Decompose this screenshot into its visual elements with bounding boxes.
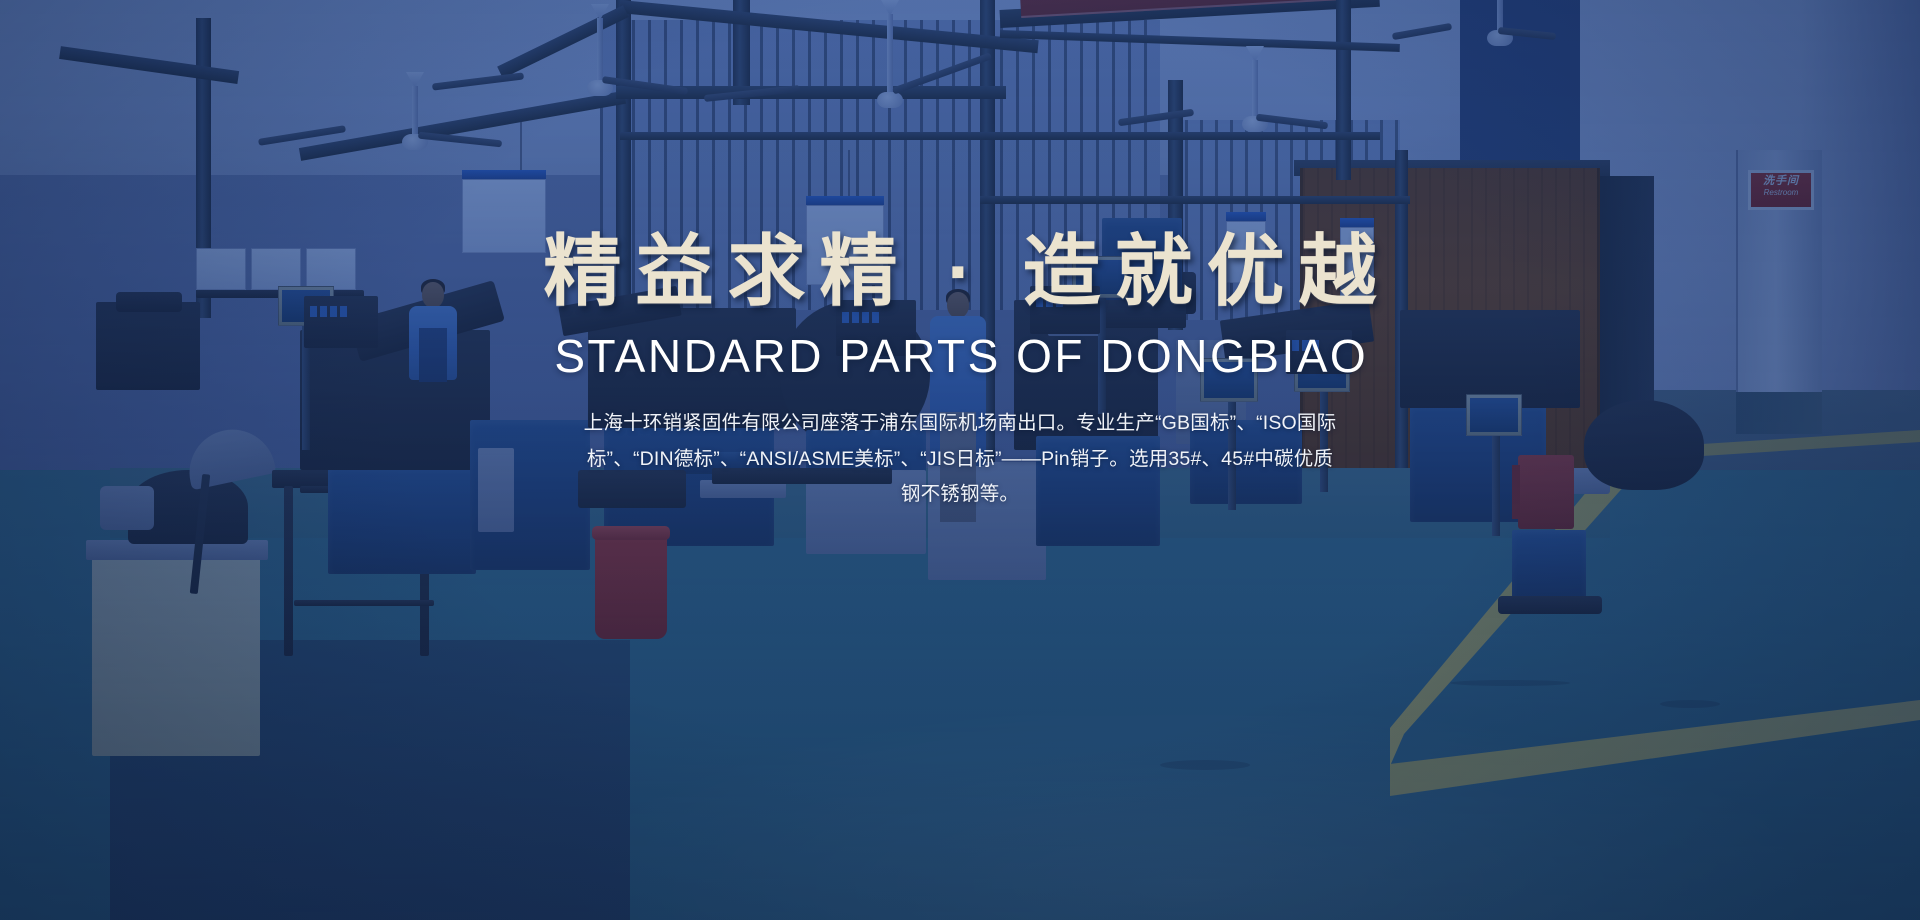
hero-description: 上海十环销紧固件有限公司座落于浦东国际机场南出口。专业生产“GB国标”、“ISO… [579, 406, 1341, 512]
hero-text-block: 精益求精 · 造就优越 STANDARD PARTS OF DONGBIAO 上… [0, 232, 1920, 513]
hero-banner: 洗手间Restroom 伤人物害 [0, 0, 1920, 920]
hero-subheadline: STANDARD PARTS OF DONGBIAO [0, 332, 1920, 380]
hero-headline: 精益求精 · 造就优越 [0, 232, 1920, 310]
